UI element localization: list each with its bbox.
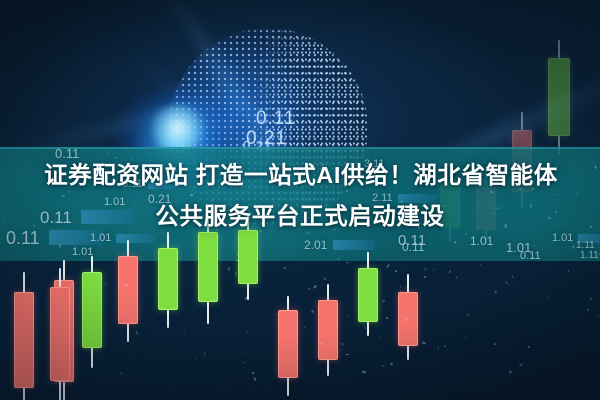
banner-image: 0.110.210.21 0.111.010.110.111.010.110.2… [0,0,600,400]
headline-line-1: 证券配资网站 打造一站式AI供给！湖北省智能体 [0,155,600,196]
page-title: 证券配资网站 打造一站式AI供给！湖北省智能体 公共服务平台正式启动建设 [0,155,600,237]
headline-line-2: 公共服务平台正式启动建设 [0,196,600,237]
